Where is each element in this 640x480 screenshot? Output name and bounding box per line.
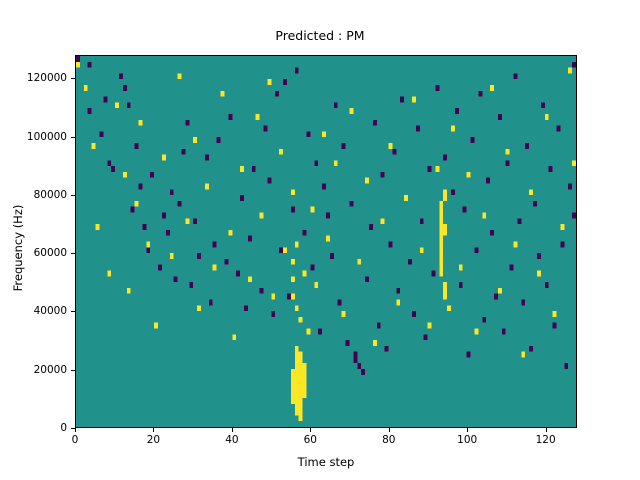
x-tick-mark <box>310 428 311 432</box>
y-axis-label: Frequency (Hz) <box>11 178 25 318</box>
y-tick-label: 120000 <box>0 72 67 84</box>
y-tick-mark <box>71 370 75 371</box>
y-tick-label: 100000 <box>0 131 67 143</box>
y-tick-mark <box>71 78 75 79</box>
x-tick-mark <box>546 428 547 432</box>
x-tick-mark <box>153 428 154 432</box>
x-tick-label: 80 <box>382 434 395 446</box>
y-tick-mark <box>71 195 75 196</box>
chart-title: Predicted : PM <box>0 28 640 43</box>
x-tick-mark <box>389 428 390 432</box>
x-tick-label: 40 <box>225 434 238 446</box>
x-tick-label: 60 <box>304 434 317 446</box>
x-axis-label: Time step <box>75 455 577 469</box>
x-tick-label: 120 <box>536 434 556 446</box>
x-tick-label: 20 <box>147 434 160 446</box>
y-tick-mark <box>71 253 75 254</box>
y-tick-mark <box>71 137 75 138</box>
heatmap-plot-area <box>75 55 577 428</box>
x-tick-label: 100 <box>457 434 477 446</box>
y-tick-label: 0 <box>0 422 67 434</box>
x-tick-mark <box>467 428 468 432</box>
x-tick-label: 0 <box>72 434 79 446</box>
heatmap-grid <box>76 56 576 427</box>
x-tick-mark <box>232 428 233 432</box>
y-tick-label: 20000 <box>0 364 67 376</box>
matplotlib-figure: Predicted : PM 0200004000060000800001000… <box>0 0 640 480</box>
x-tick-mark <box>75 428 76 432</box>
y-tick-mark <box>71 311 75 312</box>
y-tick-mark <box>71 428 75 429</box>
